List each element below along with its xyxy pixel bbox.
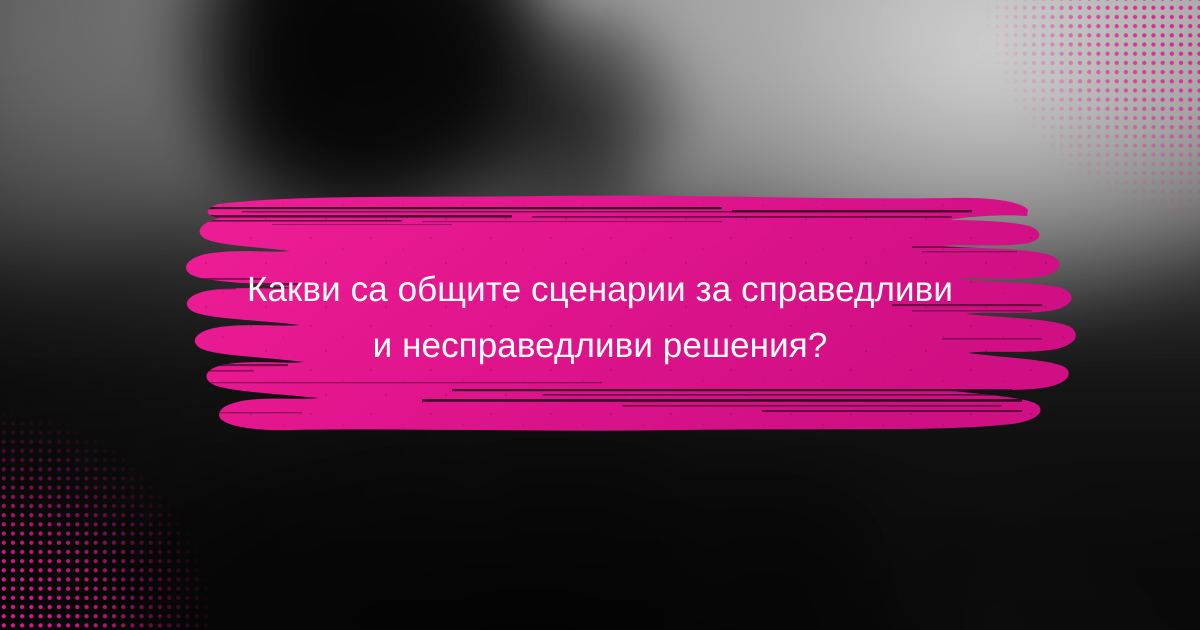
headline-line-2: и несправедливи решения?: [150, 318, 1050, 374]
headline: Какви са общите сценарии за справедливи …: [150, 262, 1050, 374]
headline-line-1: Какви са общите сценарии за справедливи: [150, 262, 1050, 318]
social-share-card: Какви са общите сценарии за справедливи …: [0, 0, 1200, 630]
